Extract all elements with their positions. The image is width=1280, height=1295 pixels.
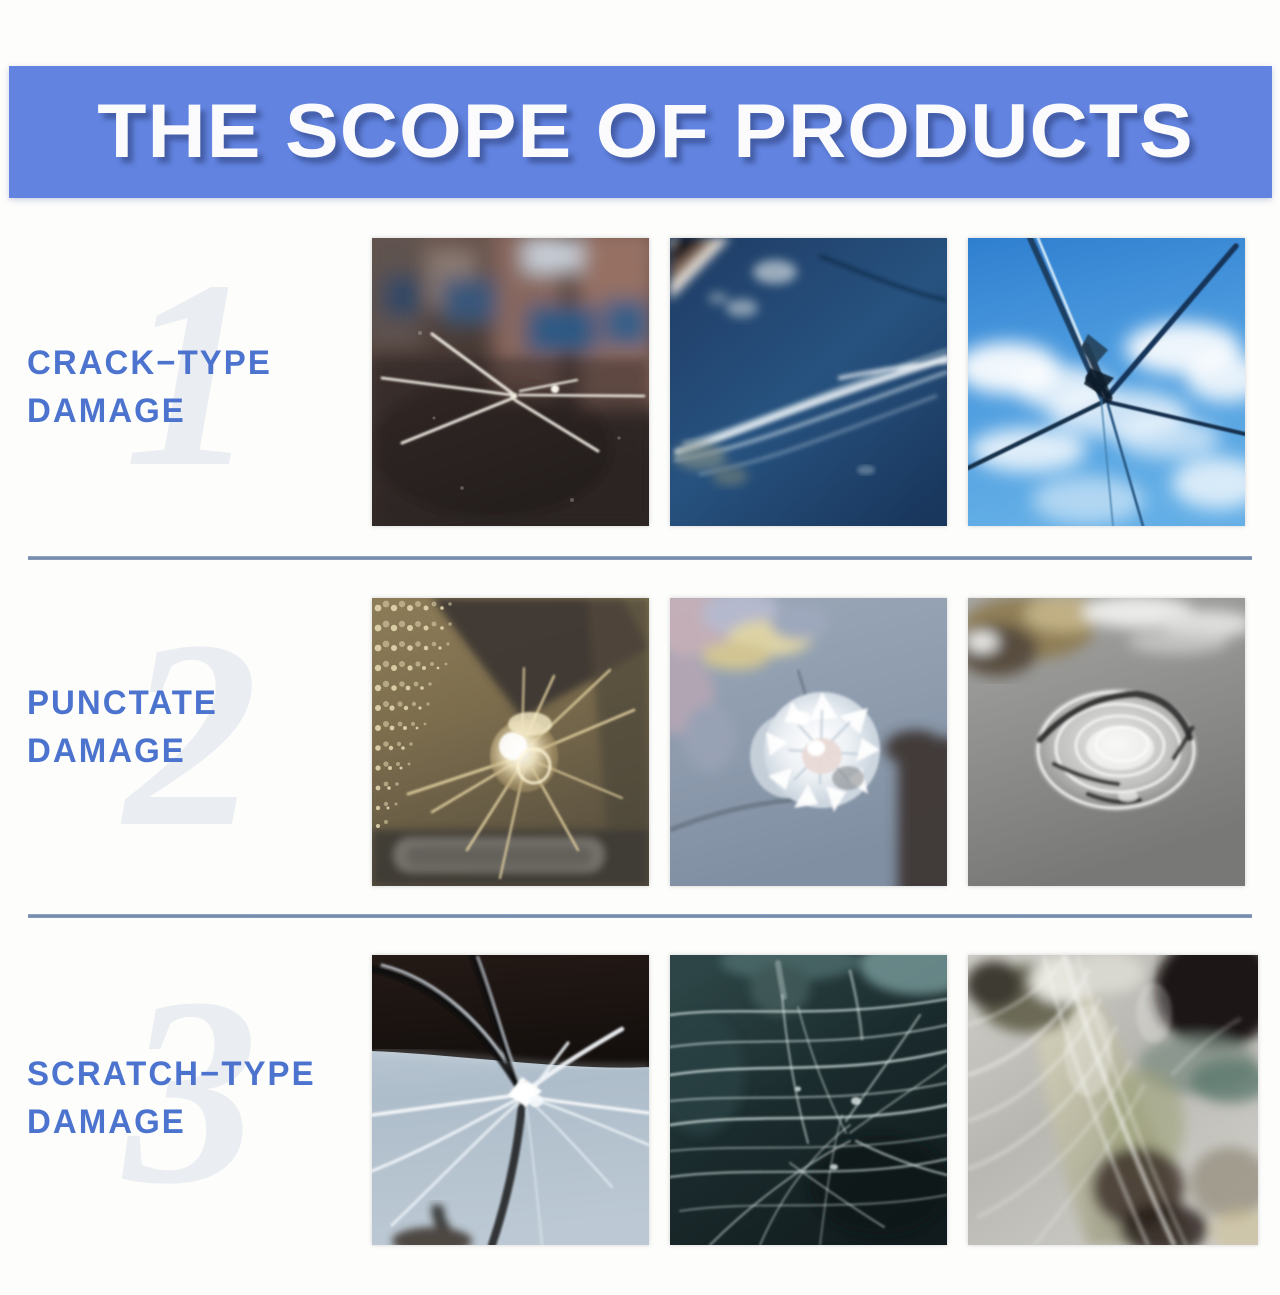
section-3-images	[372, 955, 1258, 1295]
section-1-label: CRACK−TYPE DAMAGE	[27, 340, 362, 435]
section-2-images	[372, 598, 1258, 938]
section-3-label-line1: SCRATCH−TYPE	[27, 1055, 316, 1093]
section-1-images	[372, 238, 1258, 578]
image-crack-star-on-tinted-window	[372, 238, 649, 526]
section-2-label: PUNCTATE DAMAGE	[27, 680, 362, 775]
image-radiating-cracks-blue-sky	[968, 238, 1245, 526]
section-scratch-type-damage: 3 SCRATCH−TYPE DAMAGE	[0, 955, 1280, 1295]
image-round-chip-concentric-rings	[968, 598, 1245, 886]
image-scuffed-scratched-glass-closeup	[968, 955, 1258, 1245]
image-bullseye-chip-grey-blue-glass	[670, 598, 947, 886]
image-chip-with-white-scratches	[372, 955, 649, 1245]
section-3-label-column: 3 SCRATCH−TYPE DAMAGE	[0, 955, 372, 1295]
section-3-label-line2: DAMAGE	[27, 1099, 362, 1147]
sections-container: 1 CRACK−TYPE DAMAGE	[0, 198, 1280, 1280]
section-1-label-line1: CRACK−TYPE	[27, 344, 272, 382]
section-3-label: SCRATCH−TYPE DAMAGE	[27, 1051, 362, 1146]
section-1-label-column: 1 CRACK−TYPE DAMAGE	[0, 238, 372, 578]
section-1-label-line2: DAMAGE	[27, 388, 362, 436]
header-banner: THE SCOPE OF PRODUCTS	[9, 66, 1272, 198]
section-divider-2	[28, 914, 1252, 918]
section-2-label-column: 2 PUNCTATE DAMAGE	[0, 598, 372, 938]
section-divider-1	[28, 556, 1252, 560]
image-chip-with-legs-brown-windshield	[372, 598, 649, 886]
section-punctate-damage: 2 PUNCTATE DAMAGE	[0, 598, 1280, 938]
page-title: THE SCOPE OF PRODUCTS	[87, 94, 1194, 170]
section-crack-type-damage: 1 CRACK−TYPE DAMAGE	[0, 238, 1280, 578]
section-2-label-line2: DAMAGE	[27, 728, 362, 776]
image-fine-scratches-dark-teal-glass	[670, 955, 947, 1245]
section-2-label-line1: PUNCTATE	[27, 684, 218, 722]
image-long-diagonal-crack-navy-glass	[670, 238, 947, 526]
